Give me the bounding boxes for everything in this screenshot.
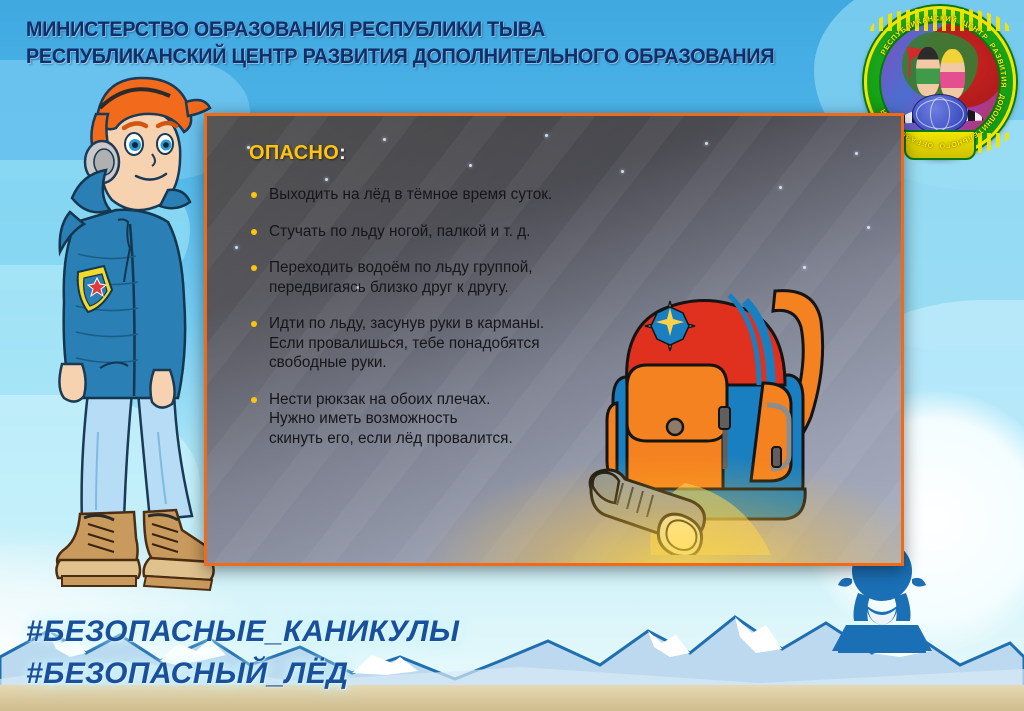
emblem-ring-char: Я	[999, 82, 1008, 88]
boy-jacket	[59, 210, 185, 408]
poster-root: МИНИСТЕРСТВО ОБРАЗОВАНИЯ РЕСПУБЛИКИ ТЫВА…	[0, 0, 1024, 711]
hashtag-block: #БЕЗОПАСНЫЕ_КАНИКУЛЫ #БЕЗОПАСНЫЙ_ЛЁД	[26, 611, 460, 695]
bullet-line: Стучать по льду ногой, палкой и т. д.	[269, 222, 639, 242]
bullet-dot-icon	[251, 397, 257, 403]
bullet-line: Выходить на лёд в тёмное время суток.	[269, 185, 639, 205]
emblem-ring-char: Т	[999, 70, 1009, 76]
danger-bullet-item: Стучать по льду ногой, палкой и т. д.	[249, 222, 639, 242]
danger-heading-colon: :	[339, 142, 346, 164]
danger-heading: ОПАСНО:	[249, 142, 639, 165]
star-speck	[383, 138, 386, 141]
star-speck	[779, 186, 782, 189]
star-speck	[705, 142, 708, 145]
header-line-2: РЕСПУБЛИКАНСКИЙ ЦЕНТР РАЗВИТИЯ ДОПОЛНИТЕ…	[26, 43, 753, 70]
boy-head	[72, 78, 210, 212]
header-line-1: МИНИСТЕРСТВО ОБРАЗОВАНИЯ РЕСПУБЛИКИ ТЫВА	[26, 16, 753, 43]
emblem-ring-char: Й	[951, 15, 958, 25]
bullet-dot-icon	[251, 229, 257, 235]
hashtag-line-2: #БЕЗОПАСНЫЙ_ЛЁД	[26, 653, 460, 695]
bullet-dot-icon	[251, 265, 257, 271]
emblem-ring-char: О	[939, 141, 945, 150]
emblem-ring-char: К	[940, 13, 945, 22]
emblem-ring-char: С	[933, 13, 939, 22]
header-title: МИНИСТЕРСТВО ОБРАЗОВАНИЯ РЕСПУБЛИКИ ТЫВА…	[26, 16, 753, 70]
star-speck	[855, 152, 858, 155]
hashtag-line-1: #БЕЗОПАСНЫЕ_КАНИКУЛЫ	[26, 611, 460, 653]
danger-bullet-item: Выходить на лёд в тёмное время суток.	[249, 185, 639, 205]
bullet-dot-icon	[251, 192, 257, 198]
emblem-ring-char: О	[927, 140, 934, 150]
information-panel: ОПАСНО: Выходить на лёд в тёмное время с…	[204, 113, 904, 566]
backpack-and-flashlight-illustration	[577, 265, 867, 555]
boy-boots	[56, 510, 213, 590]
emblem-ring-char: И	[999, 76, 1008, 82]
star-speck	[867, 226, 870, 229]
boy-jeans	[82, 390, 192, 522]
danger-heading-label: ОПАСНО	[249, 142, 339, 164]
star-speck	[235, 246, 238, 249]
bullet-dot-icon	[251, 321, 257, 327]
star-speck	[545, 134, 548, 137]
